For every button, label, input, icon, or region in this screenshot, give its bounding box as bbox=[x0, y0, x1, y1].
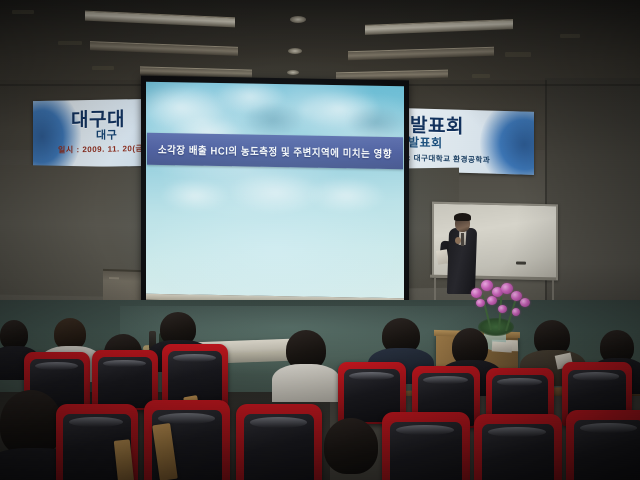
ceiling-light-fixture bbox=[348, 47, 494, 61]
ceiling-downlight bbox=[288, 48, 302, 54]
ceiling-vent bbox=[560, 34, 580, 38]
auditorium-seat[interactable] bbox=[474, 414, 562, 480]
cloud-shape bbox=[306, 177, 386, 214]
orchid-flower bbox=[476, 299, 485, 307]
seat-highlight bbox=[580, 423, 637, 433]
projection-screen: 소각장 배출 HCl의 농도측정 및 주변지역에 미치는 영향 bbox=[141, 76, 409, 310]
audience-head bbox=[324, 418, 378, 474]
auditorium-seat[interactable] bbox=[236, 404, 322, 480]
banner-left: 대구대 대구 일시 : 2009. 11. 20(금) bbox=[33, 99, 150, 168]
banner-right: 발표회 발표회 : 대구대학교 환경공학과 bbox=[404, 108, 534, 175]
projection-screen-surface: 소각장 배출 HCl의 농도측정 및 주변지역에 미치는 영향 bbox=[146, 82, 404, 299]
ceiling-light-fixture bbox=[90, 41, 238, 56]
ceiling bbox=[0, 0, 640, 86]
orchid-flower bbox=[481, 280, 493, 291]
ceiling-vent bbox=[505, 52, 531, 57]
banner-left-date: 일시 : 2009. 11. 20(금) bbox=[58, 143, 147, 156]
presenter-hair bbox=[454, 213, 471, 221]
seat-highlight bbox=[573, 372, 619, 380]
ceiling-downlight bbox=[290, 16, 306, 23]
cloud-shape bbox=[242, 101, 304, 138]
ceiling-vent bbox=[472, 74, 490, 78]
banner-right-department: : 대구대학교 환경공학과 bbox=[408, 152, 490, 165]
seat-highlight bbox=[173, 354, 217, 362]
ceiling-vent bbox=[92, 66, 114, 70]
audience-head bbox=[0, 390, 62, 456]
ceiling-light-fixture bbox=[85, 11, 235, 28]
presenter-tie bbox=[461, 233, 464, 246]
orchid-flower bbox=[471, 288, 482, 298]
seat-highlight bbox=[423, 376, 468, 384]
ceiling-downlight bbox=[287, 70, 299, 75]
auditorium-seat[interactable] bbox=[566, 410, 640, 480]
slide-title-bar: 소각장 배출 HCl의 농도측정 및 주변지역에 미치는 영향 bbox=[147, 133, 403, 169]
auditorium-seat[interactable] bbox=[382, 412, 470, 480]
cloud-shape bbox=[346, 105, 404, 140]
presenter-hand bbox=[455, 237, 461, 244]
seat-highlight bbox=[349, 372, 394, 380]
slide-title-text: 소각장 배출 HCl의 농도측정 및 주변지역에 미치는 영향 bbox=[158, 141, 392, 161]
seat-highlight bbox=[250, 417, 307, 428]
seat-highlight bbox=[35, 362, 79, 370]
banner-left-subtitle: 대구 bbox=[96, 127, 117, 143]
cloud-shape bbox=[160, 178, 230, 213]
ceiling-vent bbox=[12, 10, 34, 14]
orchid-flower bbox=[498, 305, 507, 313]
ceiling-light-fixture bbox=[365, 19, 513, 35]
seat-highlight bbox=[497, 378, 542, 386]
whiteboard-marker bbox=[516, 261, 526, 264]
orchid-flower bbox=[512, 308, 520, 316]
orchid-flower bbox=[520, 298, 530, 307]
photo-scene: 대구대 대구 일시 : 2009. 11. 20(금) 발표회 발표회 : 대구… bbox=[0, 0, 640, 480]
banner-right-subtitle: 발표회 bbox=[408, 133, 443, 151]
audience-shoulders bbox=[272, 364, 340, 402]
ceiling-vent bbox=[58, 41, 82, 45]
orchid-flower bbox=[487, 296, 497, 305]
audience-paper bbox=[492, 341, 513, 352]
